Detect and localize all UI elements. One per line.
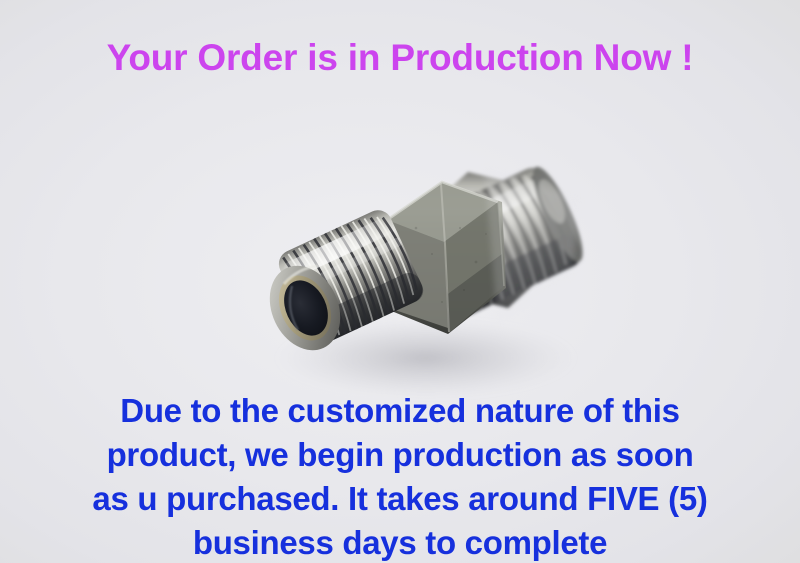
production-notice: Due to the customized nature of this pro…: [0, 389, 800, 563]
product-image: [236, 158, 588, 406]
notice-line-4: business days to complete: [0, 521, 800, 563]
page-title: Your Order is in Production Now !: [0, 36, 800, 80]
promo-banner: Your Order is in Production Now !: [0, 0, 800, 563]
hex-nipple-illustration: [236, 158, 588, 406]
notice-line-1: Due to the customized nature of this: [0, 389, 800, 433]
notice-line-3: as u purchased. It takes around FIVE (5): [0, 477, 800, 521]
notice-line-2: product, we begin production as soon: [0, 433, 800, 477]
